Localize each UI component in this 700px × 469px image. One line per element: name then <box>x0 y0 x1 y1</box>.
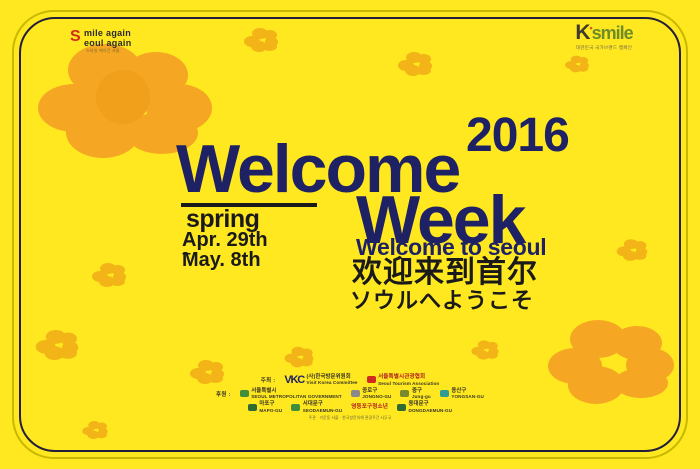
sponsor-logo-mapo-gu: 마포구 MAPO-GU <box>248 401 282 412</box>
seoul-tourism-text: 서울특별시관광협회 Seoul Tourism Association <box>378 374 439 386</box>
vkc-english: Visit Korea Committee <box>307 380 358 385</box>
yongsan-gu-english: YONGSAN-GU <box>451 394 484 399</box>
seoul-tourism-mark-icon <box>367 376 376 383</box>
yongsan-gu-text: 용산구 YONGSAN-GU <box>451 388 484 399</box>
mapo-gu-mark-icon <box>248 404 257 411</box>
jung-gu-text: 중구 Jung-gu <box>412 388 431 399</box>
mapo-gu-text: 마포구 MAPO-GU <box>259 401 282 412</box>
sponsor-row-supporters-2: 마포구 MAPO-GU 서대문구 SEODAEMUN-GU 영등포구청소년 <box>0 401 700 412</box>
vkc-text: (사)한국방문위원회 Visit Korea Committee <box>307 374 358 385</box>
seodaemun-gu-english: SEODAEMUN-GU <box>303 408 342 413</box>
jongno-gu-english: JONGNO-GU <box>362 394 391 399</box>
vkc-wordmark: VKC <box>284 374 304 386</box>
sponsor-row2-label: 후원 : <box>216 390 231 398</box>
jung-gu-mark-icon <box>400 390 409 397</box>
yeongdeungpo-text: 영등포구청소년 <box>351 404 388 410</box>
title-date-start: Apr. 29th <box>182 230 268 250</box>
seoul-metropolitan-mark-icon <box>240 390 249 397</box>
yongsan-gu-mark-icon <box>440 390 449 397</box>
sponsor-logo-jongno-gu: 종로구 JONGNO-GU <box>351 388 392 399</box>
sponsor-section: 주최 : VKC (사)한국방문위원회 Visit Korea Committe… <box>0 374 700 421</box>
dongdaemun-gu-text: 동대문구 DONGDAEMUN-GU <box>408 401 452 412</box>
dongdaemun-gu-english: DONGDAEMUN-GU <box>408 408 452 413</box>
title-date-end: May. 8th <box>182 250 261 270</box>
subtitle-chinese: 欢迎来到首尔 <box>352 258 538 288</box>
seoul-tourism-english: Seoul Tourism Association <box>378 381 439 386</box>
sponsor-logo-jung-gu: 중구 Jung-gu <box>400 388 430 399</box>
seodaemun-gu-text: 서대문구 SEODAEMUN-GU <box>303 401 342 412</box>
jung-gu-english: Jung-gu <box>412 394 431 399</box>
sponsor-row1-label: 주최 : <box>261 376 276 384</box>
sponsor-logo-seoul-metropolitan-government: 서울특별시 SEOUL METROPOLITAN GOVERNMENT <box>240 388 342 399</box>
seodaemun-gu-mark-icon <box>291 404 300 411</box>
seoul-metropolitan-english: SEOUL METROPOLITAN GOVERNMENT <box>251 394 342 399</box>
jongno-gu-text: 종로구 JONGNO-GU <box>362 388 391 399</box>
dongdaemun-gu-mark-icon <box>397 404 406 411</box>
jongno-gu-mark-icon <box>351 390 360 397</box>
sponsor-logo-vkc: VKC (사)한국방문위원회 Visit Korea Committee <box>284 374 357 386</box>
welcome-week-poster: S mile again eoul again 스마일 에이건 서울 K•smi… <box>0 0 700 469</box>
subtitle-japanese: ソウルへようこそ <box>350 290 534 312</box>
sponsor-row-supporters-1: 후원 : 서울특별시 SEOUL METROPOLITAN GOVERNMENT… <box>0 388 700 399</box>
seoul-metropolitan-text: 서울특별시 SEOUL METROPOLITAN GOVERNMENT <box>251 388 342 399</box>
sponsor-logo-yongsan-gu: 용산구 YONGSAN-GU <box>440 388 484 399</box>
sponsor-logo-seodaemun-gu: 서대문구 SEODAEMUN-GU <box>291 401 342 412</box>
sponsor-logo-seoul-tourism-association: 서울특별시관광협회 Seoul Tourism Association <box>367 374 440 386</box>
sponsor-row-organizers: 주최 : VKC (사)한국방문위원회 Visit Korea Committe… <box>0 374 700 386</box>
sponsor-logo-yeongdeungpo: 영등포구청소년 <box>351 404 388 410</box>
sponsor-footnote: 주관 · 키운동 서울 · 한국방문의해 관광주간 사무국 <box>0 416 700 421</box>
title-year: 2016 <box>466 112 569 160</box>
sponsor-logo-dongdaemun-gu: 동대문구 DONGDAEMUN-GU <box>397 401 452 412</box>
yeongdeungpo-korean: 영등포구청소년 <box>351 404 388 410</box>
mapo-gu-english: MAPO-GU <box>259 408 282 413</box>
